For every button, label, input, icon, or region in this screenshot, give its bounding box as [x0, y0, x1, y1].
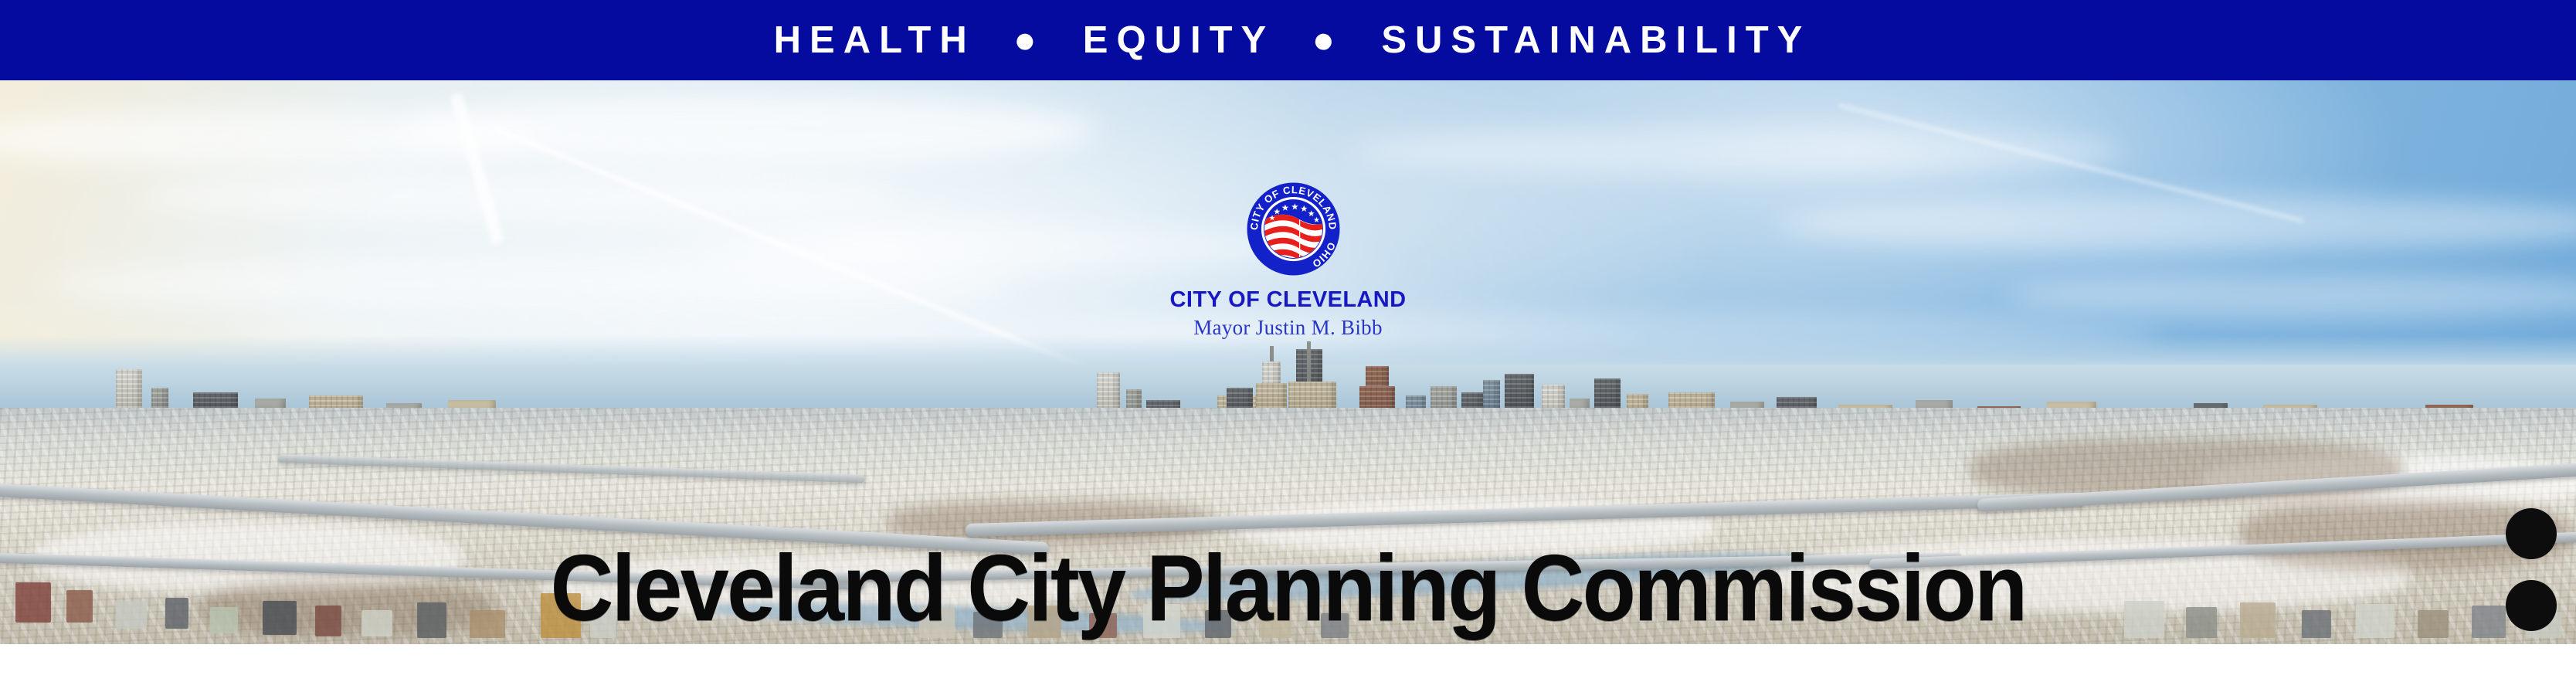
youtube-icon — [2516, 518, 2547, 549]
tagline-banner: HEALTH ● EQUITY ● SUSTAINABILITY — [0, 0, 2576, 80]
footer-whitespace — [0, 644, 2576, 682]
instagram-link[interactable] — [2506, 580, 2557, 631]
mayor-name: Mayor Justin M. Bibb — [0, 316, 2576, 340]
instagram-icon — [2516, 590, 2547, 621]
hero-banner-page: HEALTH ● EQUITY ● SUSTAINABILITY — [0, 0, 2576, 682]
hero-photo: CITY OF CLEVELAND OHIO CITY OF CLEVELAND… — [0, 80, 2576, 644]
org-name: CITY OF CLEVELAND — [0, 287, 2576, 313]
cloud-wisp — [1352, 127, 2124, 176]
cloud-wisp — [139, 173, 896, 219]
city-seal: CITY OF CLEVELAND OHIO — [1245, 181, 1342, 277]
tagline-text: HEALTH ● EQUITY ● SUSTAINABILITY — [765, 22, 1811, 59]
youtube-link[interactable] — [2506, 508, 2557, 559]
social-links — [2506, 508, 2557, 644]
page-title: Cleveland City Planning Commission — [90, 541, 2486, 635]
